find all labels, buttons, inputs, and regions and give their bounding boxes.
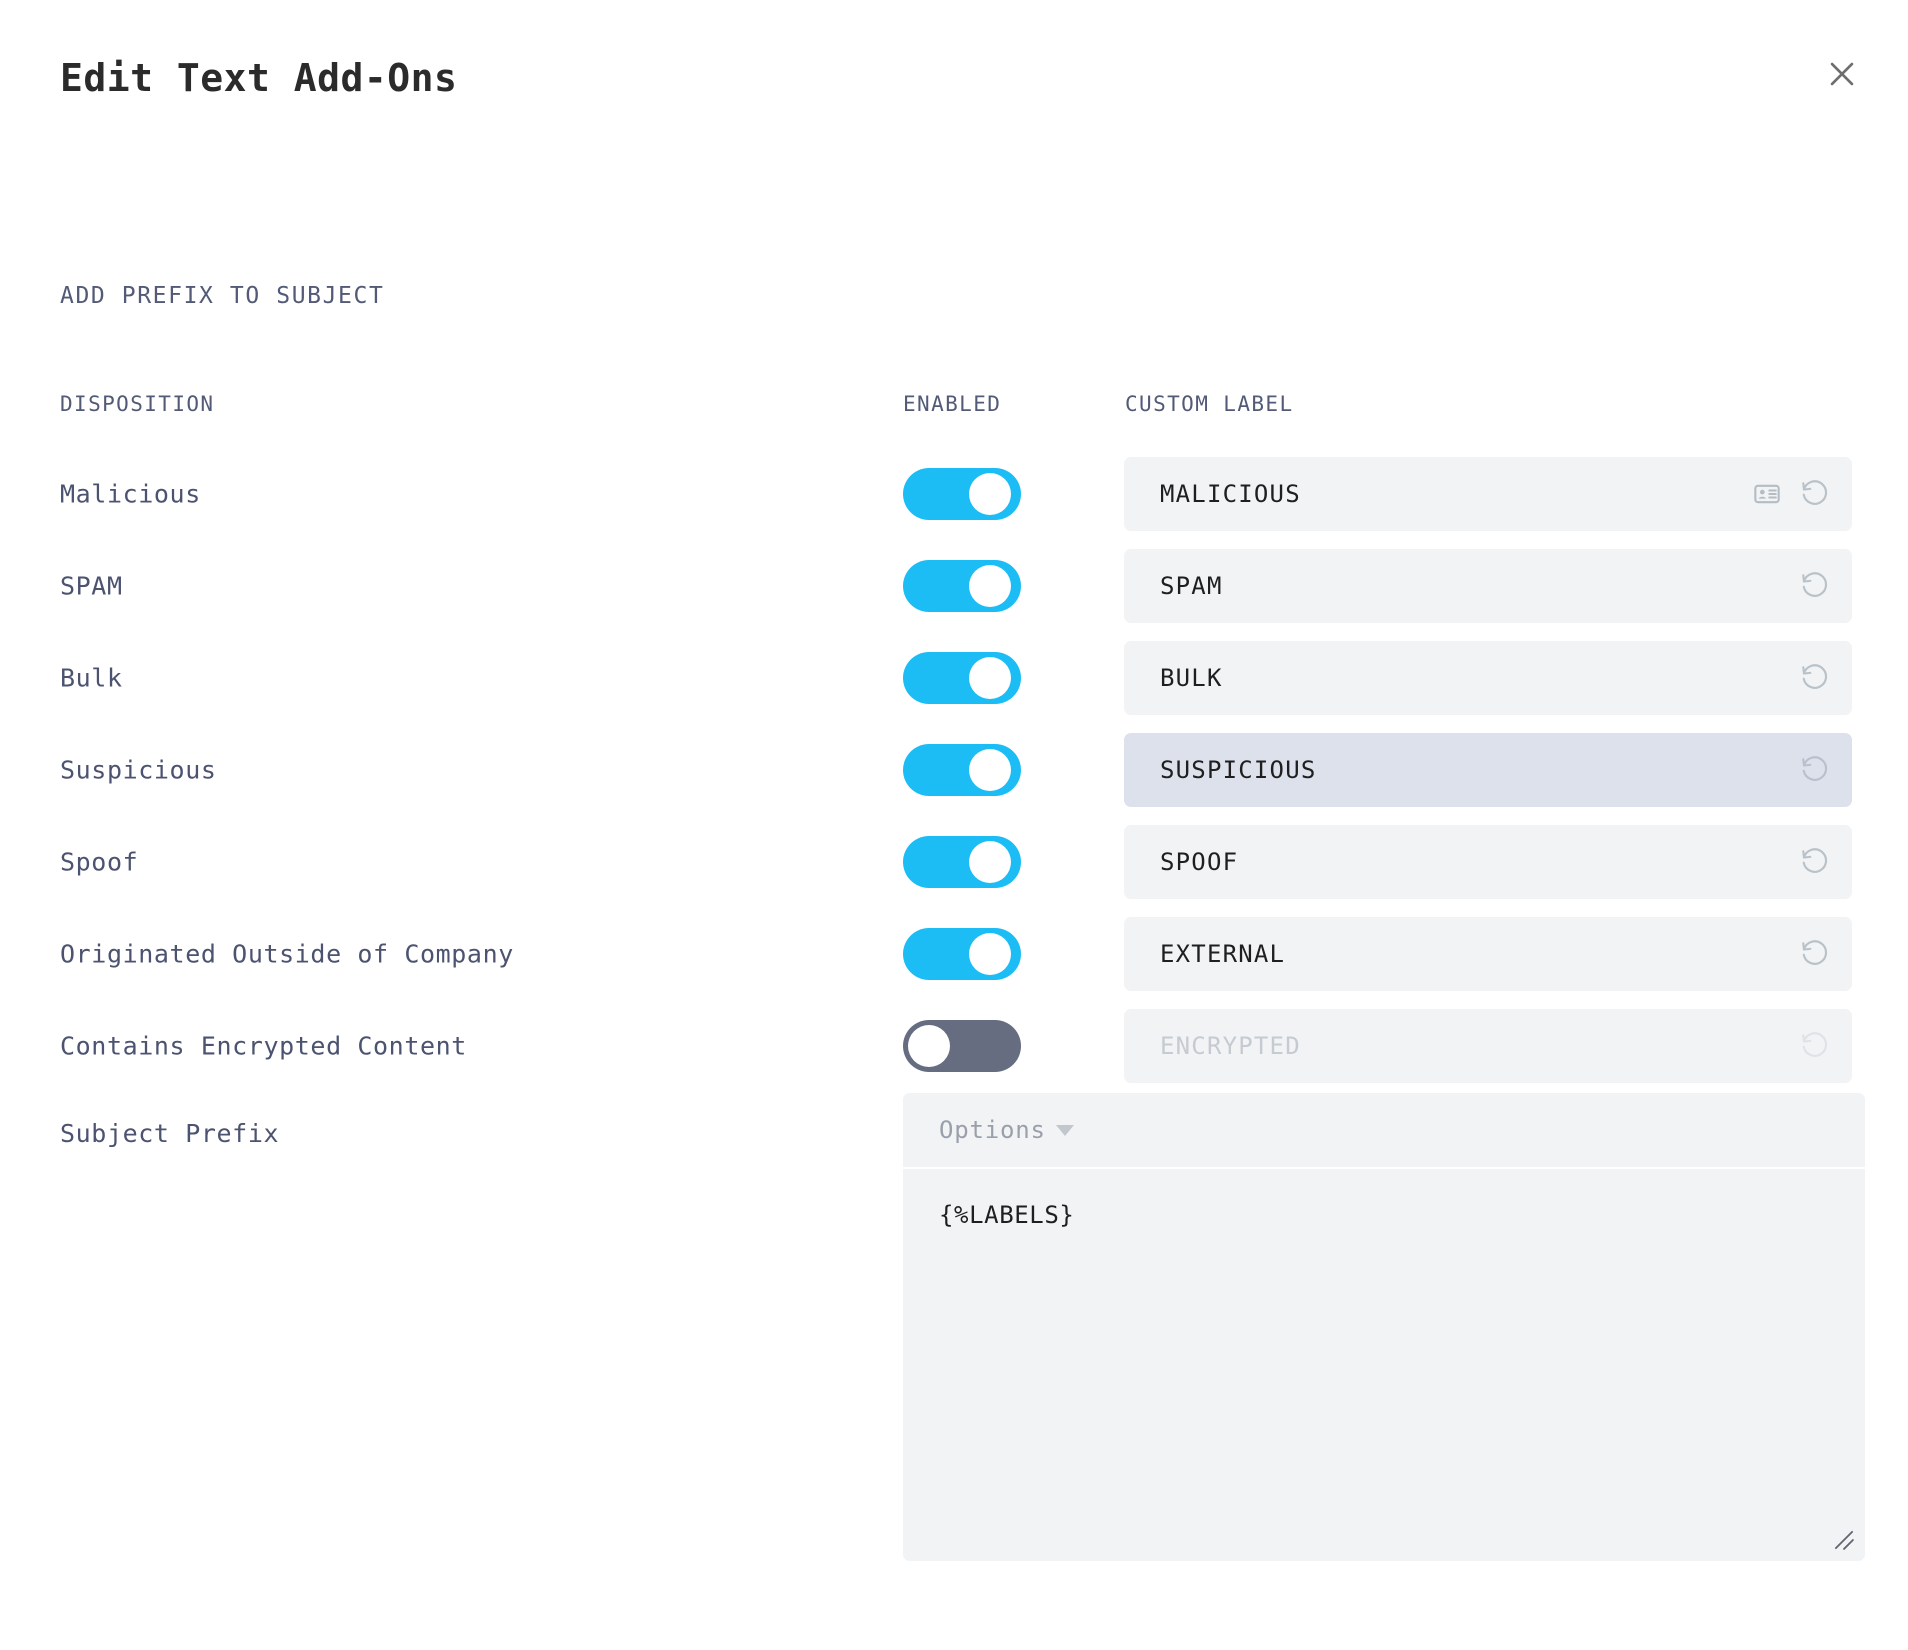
field-icon-group	[1798, 845, 1832, 879]
table-row: SPAMSPAM	[0, 540, 1908, 632]
chevron-down-icon	[1056, 1125, 1074, 1136]
custom-label-input[interactable]: SPOOF	[1124, 825, 1852, 899]
table-row: Originated Outside of CompanyEXTERNAL	[0, 908, 1908, 1000]
custom-label-input[interactable]: MALICIOUS	[1124, 457, 1852, 531]
disposition-label: Bulk	[60, 664, 123, 693]
field-icon-group	[1798, 569, 1832, 603]
custom-label-input[interactable]: EXTERNAL	[1124, 917, 1852, 991]
reset-icon[interactable]	[1798, 937, 1832, 971]
enabled-toggle[interactable]	[903, 652, 1021, 704]
disposition-label: Originated Outside of Company	[60, 940, 514, 969]
editor-toolbar: Options	[903, 1093, 1865, 1169]
custom-label-value: SPOOF	[1160, 848, 1238, 876]
custom-label-value: SUSPICIOUS	[1160, 756, 1317, 784]
enabled-toggle[interactable]	[903, 928, 1021, 980]
table-row: SuspiciousSUSPICIOUS	[0, 724, 1908, 816]
reset-icon	[1798, 1029, 1832, 1063]
field-icon-group	[1798, 661, 1832, 695]
close-icon	[1825, 57, 1859, 91]
disposition-label: Malicious	[60, 480, 201, 509]
custom-label-value: ENCRYPTED	[1160, 1032, 1301, 1060]
disposition-label: Spoof	[60, 848, 138, 877]
reset-icon[interactable]	[1798, 569, 1832, 603]
options-dropdown-label: Options	[939, 1116, 1046, 1144]
field-icon-group	[1798, 937, 1832, 971]
disposition-label: Suspicious	[60, 756, 217, 785]
toggle-knob	[969, 933, 1011, 975]
page-title: Edit Text Add-Ons	[60, 56, 457, 100]
subject-prefix-editor: Options {%LABELS}	[903, 1093, 1865, 1561]
custom-label-input[interactable]: SPAM	[1124, 549, 1852, 623]
toggle-knob	[969, 565, 1011, 607]
section-title: ADD PREFIX TO SUBJECT	[60, 283, 384, 309]
table-row: SpoofSPOOF	[0, 816, 1908, 908]
dialog-header: Edit Text Add-Ons	[0, 0, 1908, 150]
reset-icon[interactable]	[1798, 753, 1832, 787]
edit-text-addons-dialog: Edit Text Add-Ons ADD PREFIX TO SUBJECT …	[0, 0, 1908, 1650]
custom-label-value: SPAM	[1160, 572, 1223, 600]
table-row: MaliciousMALICIOUS	[0, 448, 1908, 540]
enabled-toggle[interactable]	[903, 468, 1021, 520]
subject-prefix-value: {%LABELS}	[939, 1201, 1074, 1229]
custom-label-value: MALICIOUS	[1160, 480, 1301, 508]
custom-label-input: ENCRYPTED	[1124, 1009, 1852, 1083]
subject-prefix-textarea[interactable]: {%LABELS}	[903, 1169, 1865, 1561]
field-icon-group	[1750, 477, 1832, 511]
reset-icon[interactable]	[1798, 661, 1832, 695]
options-dropdown[interactable]: Options	[939, 1116, 1074, 1144]
toggle-knob	[908, 1025, 950, 1067]
field-icon-group	[1798, 753, 1832, 787]
toggle-knob	[969, 473, 1011, 515]
enabled-toggle[interactable]	[903, 836, 1021, 888]
column-header-enabled: ENABLED	[903, 392, 1001, 416]
column-header-custom-label: CUSTOM LABEL	[1125, 392, 1294, 416]
enabled-toggle[interactable]	[903, 1020, 1021, 1072]
custom-label-value: EXTERNAL	[1160, 940, 1285, 968]
custom-label-input[interactable]: SUSPICIOUS	[1124, 733, 1852, 807]
toggle-knob	[969, 841, 1011, 883]
resize-grip-icon[interactable]	[1831, 1527, 1857, 1553]
disposition-label: SPAM	[60, 572, 123, 601]
table-row: BulkBULK	[0, 632, 1908, 724]
field-icon-group	[1798, 1029, 1832, 1063]
column-header-disposition: DISPOSITION	[60, 392, 214, 416]
toggle-knob	[969, 749, 1011, 791]
reset-icon[interactable]	[1798, 845, 1832, 879]
disposition-rows: MaliciousMALICIOUSSPAMSPAMBulkBULKSuspic…	[0, 448, 1908, 1092]
custom-label-value: BULK	[1160, 664, 1223, 692]
subject-prefix-label: Subject Prefix	[60, 1119, 279, 1148]
contact-card-icon[interactable]	[1750, 477, 1784, 511]
custom-label-input[interactable]: BULK	[1124, 641, 1852, 715]
enabled-toggle[interactable]	[903, 744, 1021, 796]
toggle-knob	[969, 657, 1011, 699]
table-row: Contains Encrypted ContentENCRYPTED	[0, 1000, 1908, 1092]
enabled-toggle[interactable]	[903, 560, 1021, 612]
close-button[interactable]	[1816, 48, 1868, 100]
disposition-label: Contains Encrypted Content	[60, 1032, 467, 1061]
reset-icon[interactable]	[1798, 477, 1832, 511]
